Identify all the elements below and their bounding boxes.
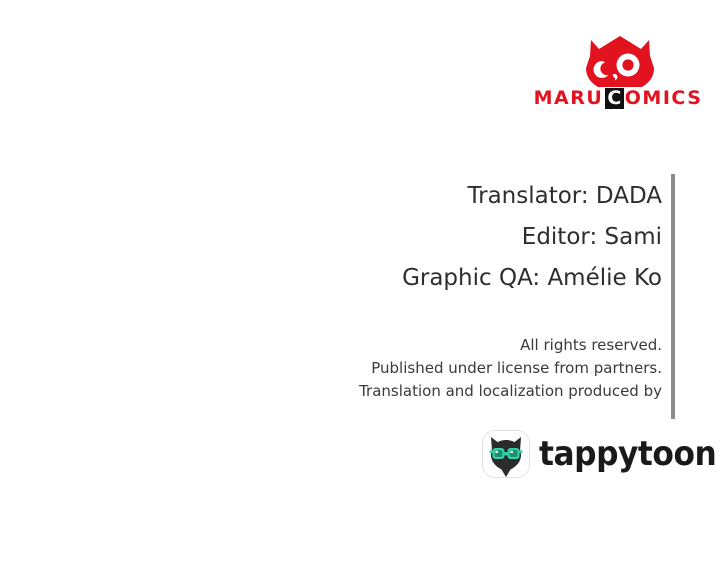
credit-line-graphic-qa: Graphic QA: Amélie Ko — [232, 258, 662, 299]
tappytoon-wordmark: tappytoon — [539, 437, 716, 471]
maru-comics-logo: MARU C OMICS — [552, 34, 684, 114]
tappytoon-logo: tappytoon — [483, 429, 675, 479]
cat-with-glasses-icon — [483, 431, 529, 477]
legal-block: All rights reserved. Published under lic… — [202, 334, 662, 403]
legal-line-rights: All rights reserved. — [202, 334, 662, 357]
comic-credits-page: MARU C OMICS Translator: DADA Editor: Sa… — [0, 0, 720, 579]
wordmark-maru: MARU — [534, 89, 604, 108]
owl-head-icon — [580, 34, 660, 90]
maru-comics-wordmark: MARU C OMICS — [552, 86, 684, 110]
credit-line-translator: Translator: DADA — [232, 176, 662, 217]
wordmark-omics: OMICS — [625, 89, 703, 108]
legal-line-license: Published under license from partners. — [202, 357, 662, 380]
credit-line-editor: Editor: Sami — [232, 217, 662, 258]
wordmark-c-highlight: C — [605, 88, 623, 109]
legal-line-localization: Translation and localization produced by — [202, 380, 662, 403]
credits-block: Translator: DADA Editor: Sami Graphic QA… — [232, 176, 662, 299]
vertical-rule — [671, 174, 675, 419]
